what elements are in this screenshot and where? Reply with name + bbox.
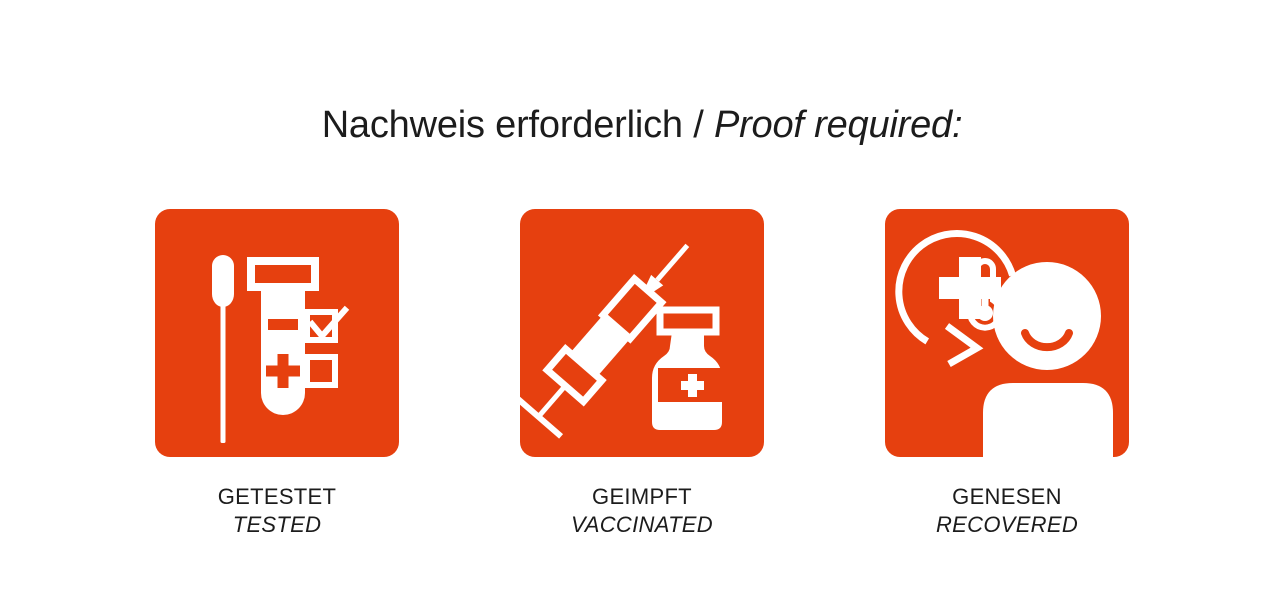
page-title-de: Nachweis erforderlich bbox=[322, 104, 683, 146]
recovered-person-icon bbox=[885, 209, 1129, 457]
proof-card-row: GETESTET TESTED bbox=[155, 209, 1129, 539]
syringe-plunger-rod bbox=[537, 384, 567, 417]
test-tube-body bbox=[261, 287, 305, 415]
minus-sign bbox=[268, 319, 298, 330]
tested-label-de: GETESTET bbox=[218, 483, 337, 511]
tested-tile[interactable] bbox=[155, 209, 399, 457]
tested-label-en: TESTED bbox=[218, 511, 337, 539]
syringe-thumb-rest bbox=[520, 395, 563, 439]
page-title-en: Proof required: bbox=[714, 104, 962, 146]
proof-card-tested[interactable]: GETESTET TESTED bbox=[155, 209, 399, 539]
vaccinated-label-en: VACCINATED bbox=[571, 511, 713, 539]
swab-test-tube-icon bbox=[155, 209, 399, 457]
proof-card-recovered[interactable]: GENESEN RECOVERED bbox=[885, 209, 1129, 539]
vaccinated-label-de: GEIMPFT bbox=[571, 483, 713, 511]
vaccine-vial-shape bbox=[652, 310, 728, 430]
recovered-label-en: RECOVERED bbox=[936, 511, 1078, 539]
syringe-barrel-filled bbox=[570, 315, 630, 376]
proof-card-vaccinated[interactable]: GEIMPFT VACCINATED bbox=[520, 209, 764, 539]
poster-page: Nachweis erforderlich / Proof required: bbox=[0, 0, 1284, 600]
person-shoulders bbox=[983, 383, 1113, 457]
recovered-labels: GENESEN RECOVERED bbox=[936, 483, 1078, 539]
vaccinated-labels: GEIMPFT VACCINATED bbox=[571, 483, 713, 539]
checkbox-checked[interactable] bbox=[307, 310, 345, 340]
syringe-needle bbox=[655, 244, 689, 282]
recovered-tile[interactable] bbox=[885, 209, 1129, 457]
cotton-swab-shape bbox=[212, 255, 234, 443]
vaccinated-tile[interactable] bbox=[520, 209, 764, 457]
syringe-vial-icon bbox=[520, 209, 764, 457]
person-head bbox=[993, 262, 1101, 370]
page-title-separator: / bbox=[683, 104, 714, 146]
recovered-label-de: GENESEN bbox=[936, 483, 1078, 511]
vial-cap bbox=[660, 310, 716, 332]
tested-labels: GETESTET TESTED bbox=[218, 483, 337, 539]
arrowhead bbox=[947, 326, 977, 364]
test-tube-cap bbox=[251, 261, 315, 287]
checkbox-unchecked[interactable] bbox=[307, 357, 335, 385]
page-title: Nachweis erforderlich / Proof required: bbox=[0, 104, 1284, 147]
